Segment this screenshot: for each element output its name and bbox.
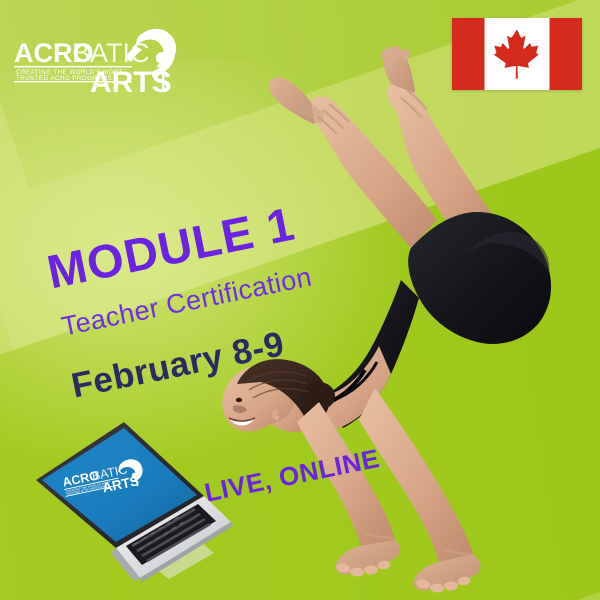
acrobatic-arts-logo: ACRO BATIC ARTS CREATING THE WORLD'S MOS… [12, 22, 202, 100]
promo-poster: ACRO BATIC ARTS CREATING THE WORLD'S MOS… [0, 0, 600, 600]
gymnast-photo [215, 40, 600, 600]
laptop-illustration: ACRO BATIC ARTS CREATING THE WORLD'S MOS… [28, 418, 238, 583]
logo-tagline-line2: TRUSTED ACRO PROGRAMS [16, 75, 112, 82]
canadian-flag [452, 18, 582, 90]
